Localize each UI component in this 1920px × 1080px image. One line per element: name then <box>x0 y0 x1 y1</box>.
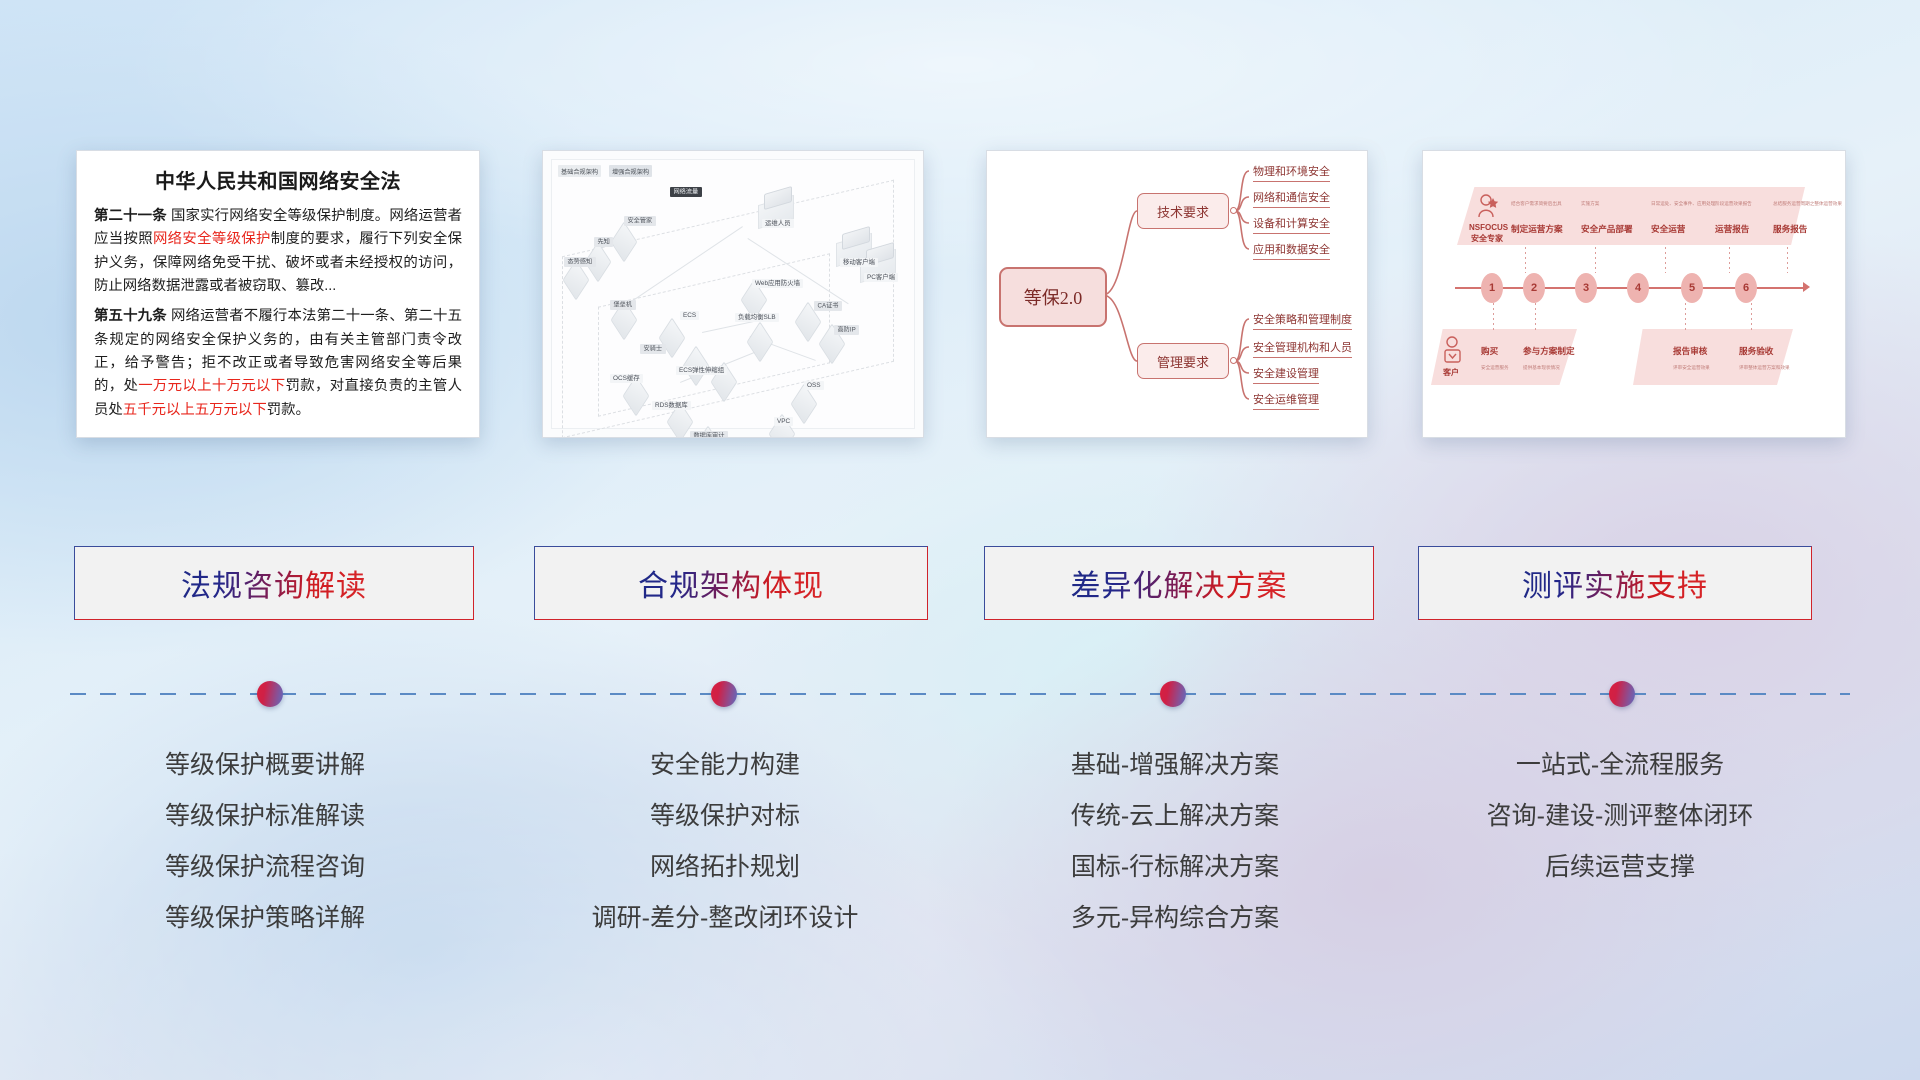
architecture-node: 态势感知 <box>564 256 596 265</box>
architecture-canvas: 基础合规架构 增强合规架构 <box>551 159 915 429</box>
customer-label: 客户 <box>1443 367 1459 378</box>
timeline-dot-4[interactable] <box>1609 681 1635 707</box>
expert-label-line2: 安全专家 <box>1471 233 1503 244</box>
mindmap-root-node: 等保2.0 <box>999 267 1107 327</box>
architecture-node-label: 网络流量 <box>670 187 702 197</box>
mindmap-canvas: 等保2.0 技术要求 管理要求 物理和环境安全网络和通信安全设备和计算安全应用和… <box>987 151 1367 437</box>
architecture-node: CA证书 <box>814 300 842 309</box>
architecture-node: Web应用防火墙 <box>752 278 803 287</box>
process-bottom-sub: 评审安全运营效果 <box>1673 365 1710 371</box>
law-card-title: 中华人民共和国网络安全法 <box>94 165 462 194</box>
process-bottom-title: 报告审核 <box>1673 345 1707 357</box>
process-top-sub: 结合客户需求简要后出具 <box>1511 201 1562 207</box>
process-top-title: 运营报告 <box>1715 223 1749 235</box>
section-heading-2: 合规架构体现 <box>638 561 824 605</box>
mindmap-collapse-icon[interactable] <box>1230 357 1237 364</box>
process-canvas: NSFOCUS 安全专家 客户 123456制定运营方案结合客户需求简要后出具安… <box>1423 151 1845 437</box>
mindmap-leaf: 安全运维管理 <box>1253 391 1319 410</box>
process-step-2[interactable]: 2 <box>1523 273 1545 303</box>
law-seg: 罚款。 <box>267 402 310 418</box>
thumbnail-cybersecurity-law[interactable]: 中华人民共和国网络安全法 第二十一条 国家实行网络安全等级保护制度。网络运营者应… <box>76 150 480 438</box>
process-step-5[interactable]: 5 <box>1681 273 1703 303</box>
thumbnail-compliance-architecture[interactable]: 基础合规架构 增强合规架构 <box>542 150 924 438</box>
law-seg-red: 一万元以上十万元以下 <box>138 378 285 394</box>
law-seg-red: 五千元以上五万元以下 <box>123 402 267 418</box>
feature-column-4: 一站式-全流程服务咨询-建设-测评整体闭环后续运营支撑 <box>1420 740 1820 893</box>
mindmap-leaf: 安全管理机构和人员 <box>1253 339 1352 358</box>
expert-label-line1: NSFOCUS <box>1469 223 1508 232</box>
law-seg-red: 网络安全等级保护 <box>153 231 271 247</box>
section-heading-4: 测评实施支持 <box>1522 561 1708 605</box>
mindmap-leaf: 设备和计算安全 <box>1253 215 1330 234</box>
architecture-node-label: 移动客户端 <box>840 258 878 267</box>
process-top-title: 服务报告 <box>1773 223 1807 235</box>
section-heading-box-4[interactable]: 测评实施支持 <box>1418 546 1812 620</box>
feature-item: 多元-异构综合方案 <box>975 893 1375 944</box>
mindmap-branch-management: 管理要求 <box>1137 343 1229 379</box>
feature-column-3: 基础-增强解决方案传统-云上解决方案国标-行标解决方案多元-异构综合方案 <box>975 740 1375 944</box>
process-leader-line <box>1665 247 1666 273</box>
mindmap-branch-technical: 技术要求 <box>1137 193 1229 229</box>
feature-item: 传统-云上解决方案 <box>975 791 1375 842</box>
feature-item: 等级保护概要讲解 <box>70 740 460 791</box>
mindmap-collapse-icon[interactable] <box>1230 207 1237 214</box>
process-band-customer-right <box>1633 329 1793 385</box>
process-top-sub: 实施方案 <box>1581 201 1599 207</box>
mindmap-leaf: 应用和数据安全 <box>1253 241 1330 260</box>
process-leader-line <box>1493 303 1494 333</box>
architecture-node-label: VPC <box>774 417 793 426</box>
architecture-node: 负载均衡SLB <box>735 312 779 321</box>
law-article-label-2: 第五十九条 <box>94 308 167 324</box>
architecture-node: 先知 <box>594 236 613 245</box>
mindmap-leaf: 网络和通信安全 <box>1253 189 1330 208</box>
process-leader-line <box>1729 247 1730 273</box>
mindmap-leaf: 物理和环境安全 <box>1253 163 1330 182</box>
process-leader-line <box>1751 303 1752 333</box>
section-heading-1: 法规咨询解读 <box>181 561 367 605</box>
feature-item: 等级保护流程咨询 <box>70 842 460 893</box>
process-bottom-title: 购买 <box>1481 345 1498 357</box>
process-leader-line <box>1685 303 1686 333</box>
architecture-node-label: 安骑士 <box>640 344 666 354</box>
feature-item: 一站式-全流程服务 <box>1420 740 1820 791</box>
process-bottom-title: 服务验收 <box>1739 345 1773 357</box>
feature-column-2: 安全能力构建等级保护对标网络拓扑规划调研-差分-整改闭环设计 <box>525 740 925 944</box>
architecture-node: 安全管家 <box>624 215 656 224</box>
process-leader-line <box>1525 247 1526 273</box>
process-leader-line <box>1595 247 1596 273</box>
section-heading-box-1[interactable]: 法规咨询解读 <box>74 546 474 620</box>
law-article-label-1: 第二十一条 <box>94 208 167 224</box>
architecture-node: 运维人员 <box>762 218 794 227</box>
architecture-node-label: 堡垒机 <box>610 300 636 310</box>
process-step-6[interactable]: 6 <box>1735 273 1757 303</box>
section-heading-3: 差异化解决方案 <box>1071 561 1288 605</box>
architecture-node: 网络流量 <box>670 186 702 195</box>
feature-column-1: 等级保护概要讲解等级保护标准解读等级保护流程咨询等级保护策略详解 <box>70 740 460 944</box>
thumbnail-service-process[interactable]: NSFOCUS 安全专家 客户 123456制定运营方案结合客户需求简要后出具安… <box>1422 150 1846 438</box>
architecture-node: 数据库审计 <box>690 430 728 438</box>
architecture-node-label: 安全管家 <box>624 216 656 226</box>
feature-item: 安全能力构建 <box>525 740 925 791</box>
timeline-dashed-line <box>70 693 1850 695</box>
mindmap-leaf: 安全建设管理 <box>1253 365 1319 384</box>
feature-item: 调研-差分-整改闭环设计 <box>525 893 925 944</box>
process-bottom-sub: 安全运营服务 <box>1481 365 1509 371</box>
process-step-1[interactable]: 1 <box>1481 273 1503 303</box>
feature-item: 等级保护策略详解 <box>70 893 460 944</box>
feature-item: 等级保护对标 <box>525 791 925 842</box>
architecture-node-label: 态势感知 <box>564 257 596 267</box>
architecture-node-label: ECS <box>680 311 699 320</box>
thumbnail-row: 中华人民共和国网络安全法 第二十一条 国家实行网络安全等级保护制度。网络运营者应… <box>0 150 1920 446</box>
process-top-title: 安全运营 <box>1651 223 1685 235</box>
architecture-node: 移动客户端 <box>840 257 878 266</box>
process-step-3[interactable]: 3 <box>1575 273 1597 303</box>
law-paragraph-1: 第二十一条 国家实行网络安全等级保护制度。网络运营者应当按照网络安全等级保护制度… <box>94 205 462 298</box>
feature-item: 等级保护标准解读 <box>70 791 460 842</box>
architecture-node-label: ECS弹性伸缩组 <box>676 366 727 375</box>
arch-tab-basic[interactable]: 基础合规架构 <box>558 165 601 177</box>
architecture-node-label: 负载均衡SLB <box>735 313 779 322</box>
process-step-4[interactable]: 4 <box>1627 273 1649 303</box>
architecture-node-label: PC客户端 <box>864 273 898 282</box>
architecture-node: PC客户端 <box>864 272 898 281</box>
process-top-title: 制定运营方案 <box>1511 223 1563 235</box>
process-top-sub: 日常运处、安全事件、应用处理 <box>1651 201 1715 207</box>
mindmap-leaf: 安全策略和管理制度 <box>1253 311 1352 330</box>
process-top-sub: 阶段运营效果报告 <box>1715 201 1752 207</box>
arch-tab-enhanced[interactable]: 增强合规架构 <box>609 165 652 177</box>
expert-person-icon <box>1475 193 1501 223</box>
process-leader-line <box>1535 303 1536 333</box>
process-bottom-title: 参与方案制定 <box>1523 345 1575 357</box>
architecture-node: RDS数据库 <box>652 400 691 409</box>
architecture-node: VPC <box>774 418 793 425</box>
process-band-expert <box>1457 187 1805 245</box>
customer-person-icon <box>1441 335 1465 367</box>
timeline-dot-2[interactable] <box>711 681 737 707</box>
architecture-node-label: 运维人员 <box>762 219 794 228</box>
law-paragraph-2: 第五十九条 网络运营者不履行本法第二十一条、第二十五条规定的网络安全保护义务的，… <box>94 305 462 422</box>
architecture-node: ECS <box>680 312 699 319</box>
feature-item: 基础-增强解决方案 <box>975 740 1375 791</box>
architecture-node: 安骑士 <box>640 343 666 352</box>
feature-item: 后续运营支撑 <box>1420 842 1820 893</box>
architecture-node-label: RDS数据库 <box>652 401 691 410</box>
architecture-node: 高防IP <box>834 324 859 333</box>
process-bottom-sub: 评审整体运营方案和效果 <box>1739 365 1790 371</box>
architecture-node-label: Web应用防火墙 <box>752 279 803 288</box>
process-leader-line <box>1787 247 1788 273</box>
feature-item: 国标-行标解决方案 <box>975 842 1375 893</box>
thumbnail-mindmap-dengbao[interactable]: 等保2.0 技术要求 管理要求 物理和环境安全网络和通信安全设备和计算安全应用和… <box>986 150 1368 438</box>
architecture-node: OCS缓存 <box>610 373 643 382</box>
architecture-node-label: CA证书 <box>814 301 842 311</box>
architecture-node: 堡垒机 <box>610 299 636 308</box>
architecture-node: OSS <box>804 382 824 389</box>
architecture-node-label: OSS <box>804 381 824 390</box>
process-top-sub: 总结服务运营周期之整体运营效果 <box>1773 201 1842 207</box>
feature-item: 网络拓扑规划 <box>525 842 925 893</box>
process-arrow-icon <box>1803 282 1810 292</box>
timeline-dot-3[interactable] <box>1160 681 1186 707</box>
architecture-node-label: 高防IP <box>834 325 859 335</box>
process-top-title: 安全产品部署 <box>1581 223 1633 235</box>
timeline-dot-1[interactable] <box>257 681 283 707</box>
feature-item: 咨询-建设-测评整体闭环 <box>1420 791 1820 842</box>
architecture-node: ECS弹性伸缩组 <box>676 365 727 374</box>
section-heading-box-3[interactable]: 差异化解决方案 <box>984 546 1374 620</box>
section-heading-box-2[interactable]: 合规架构体现 <box>534 546 928 620</box>
process-bottom-sub: 提供基本现状情况 <box>1523 365 1560 371</box>
architecture-node-label: OCS缓存 <box>610 374 643 383</box>
architecture-node-label: 数据库审计 <box>690 431 728 439</box>
architecture-node-label: 先知 <box>594 237 613 247</box>
